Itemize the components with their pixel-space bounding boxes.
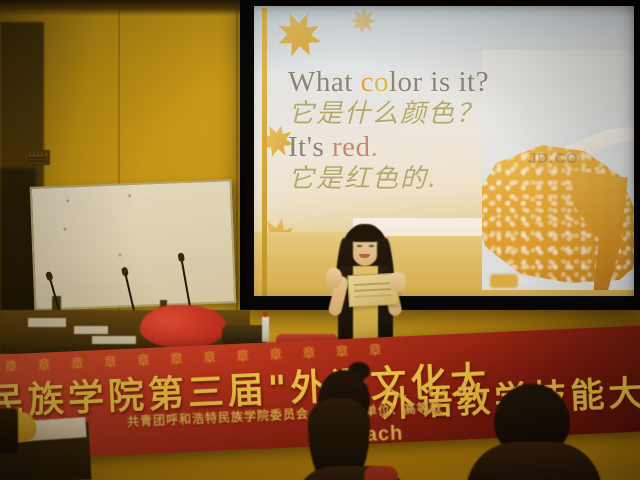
slide-line1-part2: c	[361, 66, 374, 98]
photo-scene: JD.CO What color is it? 它是什么颜色？ It's red…	[0, 0, 640, 480]
slide-line-answer-zh: 它是红色的.	[288, 166, 548, 193]
water-bottle	[262, 316, 269, 342]
wall-vent	[24, 150, 50, 165]
projection-screen-surface: JD.CO What color is it? 它是什么颜色？ It's red…	[254, 6, 634, 296]
slide-text-block: What color is it? 它是什么颜色？ It's red. 它是红色…	[288, 68, 548, 198]
slide-line1-part3: o	[374, 66, 389, 98]
paper-sheet	[28, 318, 66, 327]
slide-left-gold-edge	[262, 8, 267, 296]
presenter-hand-right	[390, 272, 406, 292]
slide-line-answer-en: It's red.	[288, 133, 548, 163]
whiteboard	[30, 179, 237, 311]
projection-screen: JD.CO What color is it? 它是什么颜色？ It's red…	[240, 0, 640, 310]
slide-line3-part2: red	[332, 131, 371, 163]
foreground-dark-object	[0, 408, 18, 454]
red-cloth	[140, 305, 226, 349]
slide-line-question-en: What color is it?	[288, 68, 548, 98]
audience-member-long-hair	[292, 370, 422, 480]
presenter-hand-left	[326, 268, 342, 288]
slide-line3-part1: It's	[288, 131, 332, 163]
audience-member-short-hair	[474, 384, 614, 480]
paper-sheet	[74, 326, 108, 334]
slide-line1-part4: lor is it?	[389, 66, 489, 98]
slide-line1-part1: What	[288, 66, 361, 98]
shoe-accent-chip	[490, 274, 518, 288]
maple-leaf-icon	[269, 6, 329, 65]
paper-sheet	[92, 336, 136, 344]
slide-line3-part3: .	[371, 131, 379, 163]
slide-line-question-zh: 它是什么颜色？	[288, 101, 548, 128]
maple-leaf-icon	[345, 6, 382, 39]
